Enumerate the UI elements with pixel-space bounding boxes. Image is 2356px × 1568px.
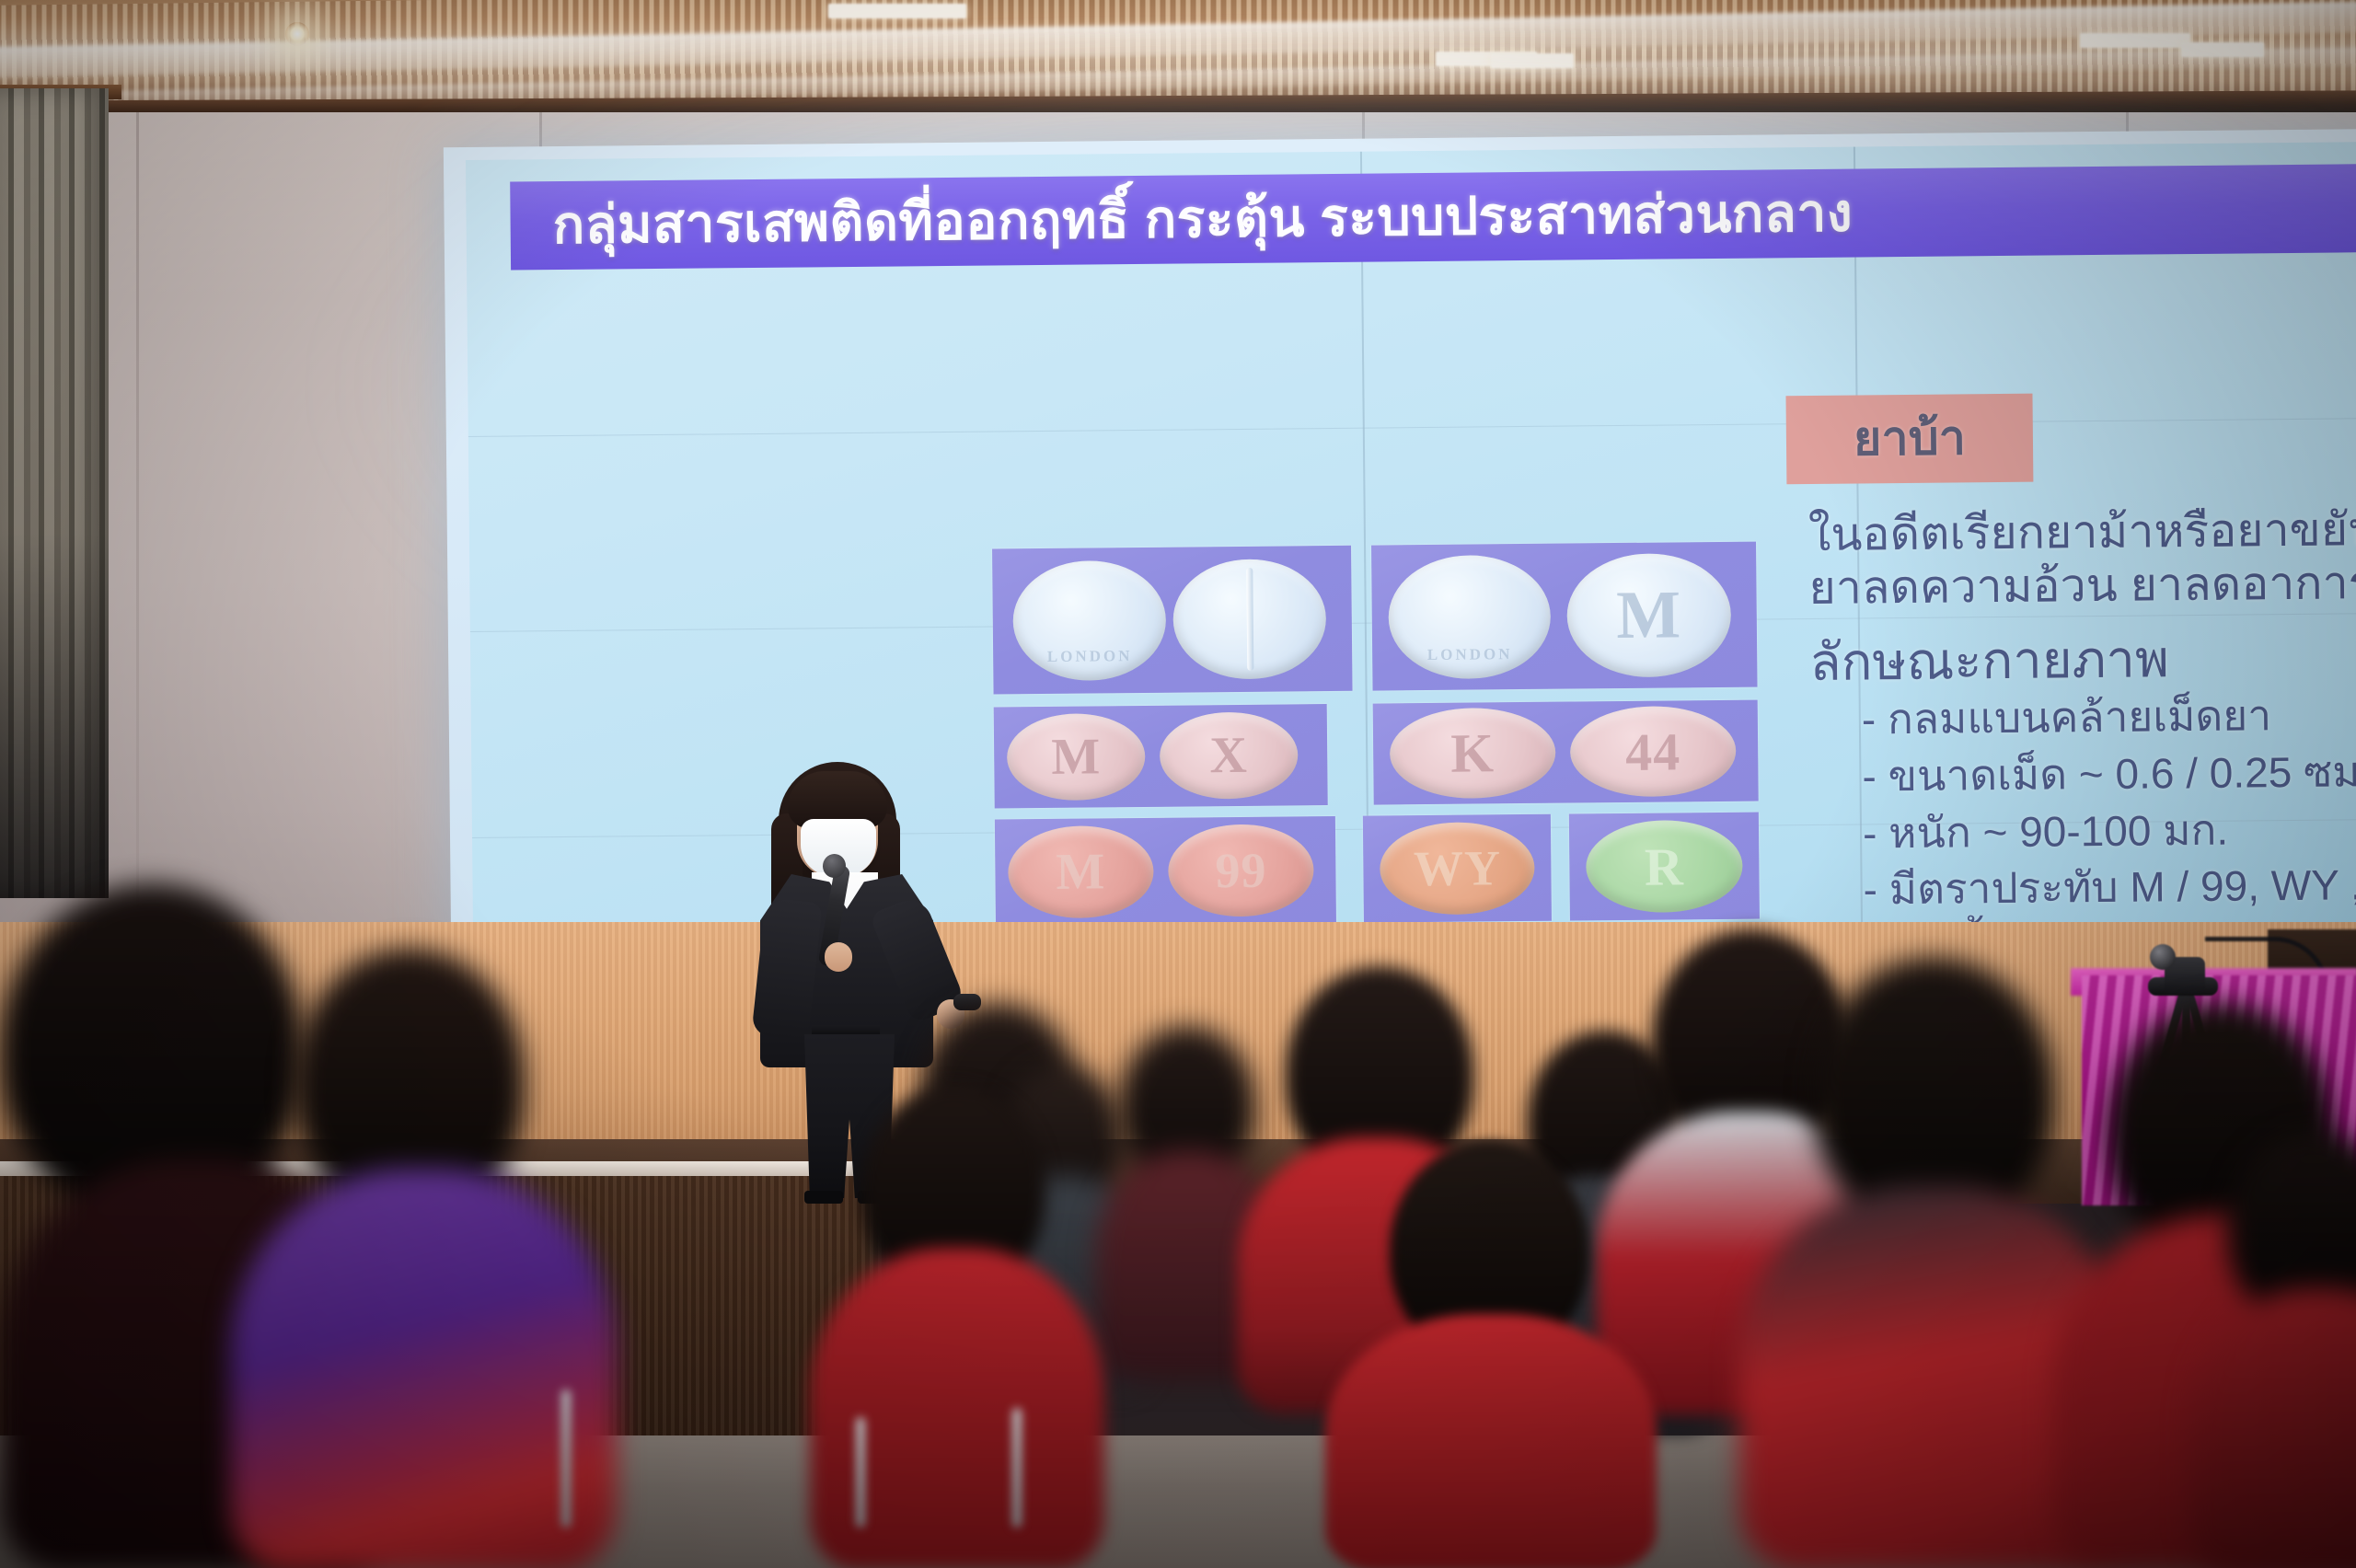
characteristic-item: - มีตราประทับ M / 99, WY , R etc <box>1811 852 2356 919</box>
pill-panel-2: LONDON M <box>1371 542 1757 691</box>
pill-stamp-text: K <box>1450 721 1495 785</box>
pill-stamp-m: M <box>1007 713 1146 801</box>
drug-name-label: ยาบ้า <box>1854 414 1966 463</box>
ceiling-light-strip <box>828 4 966 18</box>
auditorium-photo: กลุ่มสารเสพติดที่ออกฤทธิ์ กระตุ้น ระบบปร… <box>0 0 2356 1568</box>
pill-panel-1: LONDON <box>992 546 1352 695</box>
pill-panel-7: R <box>1569 813 1760 921</box>
pill-panel-3: M X <box>994 704 1328 808</box>
pill-scored <box>1172 559 1326 680</box>
slide-title: กลุ่มสารเสพติดที่ออกฤทธิ์ กระตุ้น ระบบปร… <box>510 187 1853 252</box>
pill-stamp-m: M <box>1566 553 1731 678</box>
presenter-hand-left <box>825 942 852 972</box>
intro-line-1: ในอดีตเรียกยาม้าหรือยาขยัน เคยใช้เป็น <box>1808 498 2356 561</box>
chair-frame <box>856 1417 865 1528</box>
drug-name-label-box: ยาบ้า <box>1785 394 2033 485</box>
audience-member <box>2190 1132 2356 1568</box>
pill-stamp-44: 44 <box>1570 706 1737 798</box>
pill-subtext: LONDON <box>1047 647 1133 666</box>
pill-stamp-text: WY <box>1414 839 1502 897</box>
chair-frame <box>1012 1408 1022 1528</box>
window-curtain <box>0 88 109 898</box>
pill-panel-4: K 44 <box>1373 700 1759 805</box>
slide-title-bar: กลุ่มสารเสพติดที่ออกฤทธิ์ กระตุ้น ระบบปร… <box>510 164 2356 271</box>
pill-stamp-text: M <box>1616 576 1682 655</box>
pill-stamp-99: 99 <box>1168 824 1314 917</box>
intro-line-2: ยาลดความอ้วน ยาลดอาการซึมเศร้า <box>1808 551 2356 615</box>
chair-frame <box>561 1389 571 1528</box>
pill-stamp-x: X <box>1160 711 1299 799</box>
ceiling-light-strip <box>1491 53 1574 68</box>
characteristic-item: - ขนาดเม็ด ~ 0.6 / 0.25 ซม. <box>1810 739 2356 806</box>
ceiling-spotlight <box>285 22 309 46</box>
pill-stamp-text: M <box>1056 842 1105 902</box>
pill-stamp-r: R <box>1586 820 1743 914</box>
pill-stamp-k: K <box>1390 708 1556 800</box>
pill-image-grid: LONDON LONDON M <box>992 542 1760 936</box>
pill-stamp-text: 99 <box>1215 842 1267 900</box>
pill-london-logo: LONDON <box>1012 560 1166 682</box>
section-heading: ลักษณะกายภาพ <box>1809 623 2356 693</box>
pill-panel-5: M 99 <box>995 816 1336 927</box>
pill-stamp-m: M <box>1008 825 1154 919</box>
pill-stamp-wy: WY <box>1380 822 1535 916</box>
pill-stamp-text: 44 <box>1625 721 1681 783</box>
pill-subtext: LONDON <box>1427 645 1513 664</box>
pill-stamp-text: X <box>1209 726 1248 785</box>
characteristic-item: - กลมแบนคล้ายเม็ดยา <box>1810 682 2356 749</box>
audience-member <box>1325 1141 1657 1568</box>
ceiling-light-strip <box>2080 33 2190 48</box>
characteristic-item: - หนัก ~ 90-100 มก. <box>1811 796 2356 863</box>
audience-member <box>230 948 617 1568</box>
pill-stamp-text: M <box>1051 727 1101 787</box>
pill-stamp-text: R <box>1645 836 1685 897</box>
slide-body-column: ในอดีตเรียกยาม้าหรือยาขยัน เคยใช้เป็น ยา… <box>1808 498 2356 942</box>
ceiling-light-strip <box>2181 42 2264 57</box>
pill-london-logo: LONDON <box>1388 555 1551 680</box>
camera-lens <box>2150 944 2176 970</box>
audience-member <box>810 1086 1104 1568</box>
pill-panel-6: WY <box>1363 814 1552 923</box>
ceiling <box>0 0 2356 103</box>
